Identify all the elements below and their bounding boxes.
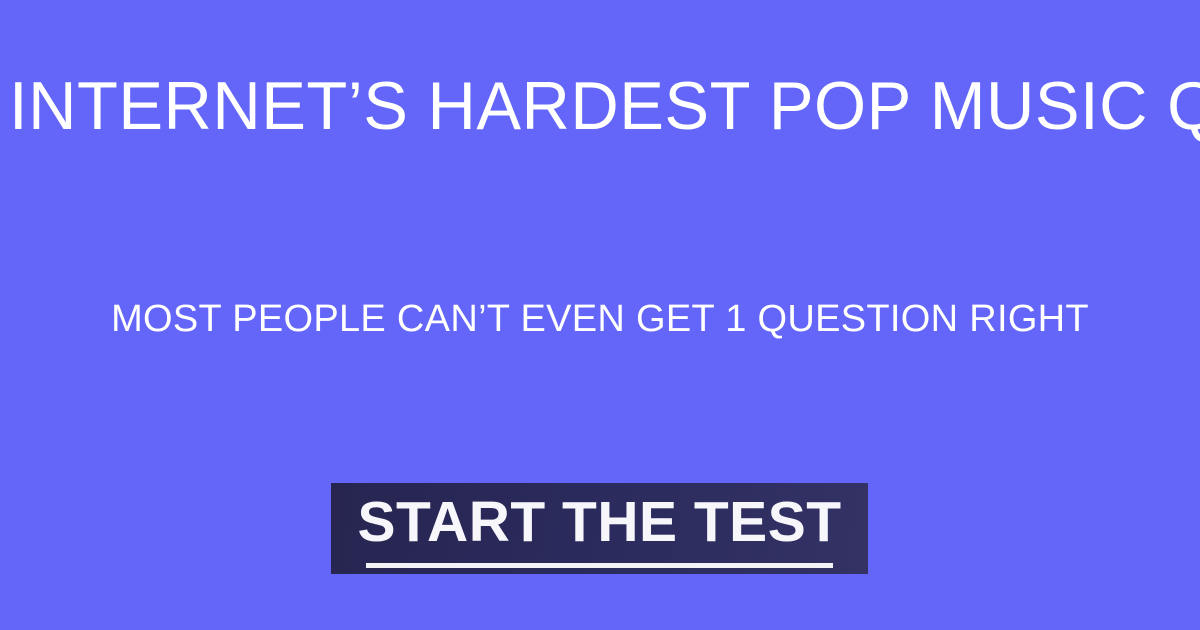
page-title: INTERNET’S HARDEST POP MUSIC QUIZ [9, 72, 1191, 141]
button-underline-accent [366, 563, 833, 568]
quiz-promo-card: INTERNET’S HARDEST POP MUSIC QUIZ MOST P… [0, 0, 1200, 630]
start-the-test-button-label: START THE TEST [357, 494, 841, 551]
start-the-test-button[interactable]: START THE TEST [331, 483, 868, 574]
subtitle-text: MOST PEOPLE CAN’T EVEN GET 1 QUESTION RI… [0, 300, 1200, 340]
